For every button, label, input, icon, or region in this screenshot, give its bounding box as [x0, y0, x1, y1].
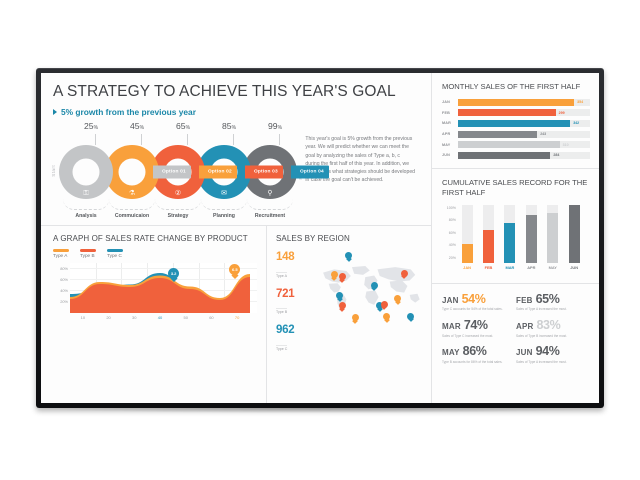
monthly-stat-percent: 94% [536, 345, 560, 358]
monthly-stat-head: MAR74% [442, 319, 512, 332]
monthly-stat-month: JAN [442, 296, 459, 305]
process-percent: 99% [268, 121, 282, 131]
monthly-bar-track: 354 [458, 99, 590, 106]
monthly-stat-month: FEB [516, 296, 533, 305]
monthly-stat-desc: Type B accounts for 86% of the total sal… [442, 360, 512, 365]
process-percent-leader [233, 134, 234, 145]
x-tick: 10 [81, 315, 85, 320]
cumulative-x-axis: JANFEBMARAPRMAYJUN [459, 265, 588, 273]
monthly-stat-percent: 83% [537, 319, 561, 332]
process-percent: 45% [130, 121, 144, 131]
legend-swatch [80, 249, 96, 252]
cumulative-sales-section: CUMULATIVE SALES RECORD FOR THE FIRST HA… [432, 168, 599, 282]
lab-flask-icon: ⚗ [129, 190, 135, 197]
monthly-bar-fill [458, 120, 570, 127]
monthly-stat: APR83%Sales of Type B increased the most… [516, 319, 590, 345]
monthly-stats-grid: JAN54%Type C accounts for 54% of the tot… [442, 293, 590, 372]
monthly-bar-track: 342 [458, 120, 590, 127]
y-tick: 40% [60, 288, 68, 293]
map-pin-icon[interactable] [371, 282, 378, 291]
process-percent-leader [95, 134, 96, 145]
mail-icon: ✉ [221, 190, 227, 197]
sales-rate-panel: A GRAPH OF SALES RATE CHANGE BY PRODUCT … [41, 226, 266, 403]
monthly-bar-track: 243 [458, 131, 590, 138]
monthly-stat-percent: 65% [536, 293, 560, 306]
legend-label: Type B [80, 253, 95, 258]
sales-by-region-title: SALES BY REGION [276, 234, 423, 243]
cumulative-chart: 100%80%60%40%20% JANFEBMARAPRMAYJUN [442, 205, 590, 277]
region-value: 148 [276, 252, 308, 264]
cumulative-x-tick: FEB [485, 265, 493, 270]
process-percent: 85% [222, 121, 236, 131]
x-tick: 20 [106, 315, 110, 320]
monthly-stat-head: APR83% [516, 319, 586, 332]
process-diagram: Start Finish 25%45%65%85%99% ⚿Option 01⚗… [51, 121, 303, 225]
lock-icon: ⚿ [83, 190, 88, 197]
cumulative-x-tick: MAR [505, 265, 514, 270]
monthly-stat-month: JUN [516, 348, 533, 357]
monthly-bar-track: 284 [458, 152, 590, 159]
process-percent-leader [141, 134, 142, 145]
map-landmass [377, 267, 415, 281]
monthly-stat: MAY86%Type B accounts for 86% of the tot… [442, 345, 516, 371]
map-pin-icon[interactable] [394, 295, 401, 304]
monthly-bar-fill [458, 99, 574, 106]
monthly-stat-desc: Type C accounts for 54% of the total sal… [442, 307, 512, 312]
legend-label: Type A [53, 253, 67, 258]
legend-swatch [53, 249, 69, 252]
monthly-bar-fill [458, 131, 537, 138]
process-percent-leader [279, 134, 280, 145]
process-section: Start Finish 25%45%65%85%99% ⚿Option 01⚗… [41, 117, 431, 225]
process-ring-hole [119, 159, 146, 186]
sales-rate-y-axis: 80%60%40%20% [54, 263, 69, 313]
legend-item: Type A [53, 249, 69, 258]
monthly-bar-month: JUN [442, 153, 458, 157]
cumulative-y-axis: 100%80%60%40%20% [442, 205, 457, 263]
cumulative-y-tick: 60% [449, 231, 456, 235]
map-pin-tip [408, 317, 413, 322]
right-column: MONTHLY SALES OF THE FIRST HALF JAN354FE… [431, 73, 599, 403]
sales-rate-title: A GRAPH OF SALES RATE CHANGE BY PRODUCT [53, 234, 257, 243]
region-map-wrap: 148Type A721Type B962Type C [276, 249, 423, 325]
y-tick: 20% [60, 299, 68, 304]
monthly-bar-row: MAR342 [442, 120, 590, 127]
process-percent: 65% [176, 121, 190, 131]
monthly-bar-row: MAY310 [442, 141, 590, 148]
monthly-bar-row: JUN284 [442, 152, 590, 159]
monthly-stat-percent: 86% [463, 345, 487, 358]
monthly-stat: FEB65%Sales of Type A increased the most… [516, 293, 590, 319]
monthly-bar-month: FEB [442, 111, 458, 115]
data-marker-tip [170, 275, 177, 282]
clock-icon: ② [175, 190, 181, 197]
monthly-stat-month: MAY [442, 348, 460, 357]
area-series-svg [70, 263, 250, 313]
page-title: A STRATEGY TO ACHIEVE THIS YEAR'S GOAL [53, 83, 419, 100]
monthly-stat-desc: Sales of Type C increased the most. [442, 334, 512, 339]
map-pin-icon[interactable] [331, 271, 338, 280]
monthly-bar-value: 284 [550, 152, 559, 159]
region-stat: 721Type B [276, 289, 308, 319]
monthly-bar-row: APR243 [442, 131, 590, 138]
process-percent-leader [187, 134, 188, 145]
map-pin-tip [402, 274, 407, 279]
region-values: 148Type A721Type B962Type C [276, 249, 308, 325]
x-tick: 60 [209, 315, 213, 320]
process-ring-tag: Option 02 [199, 166, 237, 179]
process-start-label: Start [51, 165, 56, 177]
world-map-svg [312, 249, 423, 323]
cumulative-plot [459, 205, 588, 263]
region-stat: 962Type C [276, 325, 308, 355]
monthly-stat: JUN94%Sales of Type A increased the most… [516, 345, 590, 371]
map-pin-icon[interactable] [339, 302, 346, 311]
cumulative-bar-fill [462, 244, 473, 263]
map-pin-icon[interactable] [345, 252, 352, 261]
cumulative-bar-fill [483, 230, 494, 262]
monthly-bar-value: 299 [556, 109, 565, 116]
monthly-sales-section: MONTHLY SALES OF THE FIRST HALF JAN354FE… [432, 73, 599, 168]
monthly-bar-month: APR [442, 132, 458, 136]
screenshot-stage: A STRATEGY TO ACHIEVE THIS YEAR'S GOAL 5… [0, 0, 640, 480]
region-value: 962 [276, 325, 308, 337]
region-unit: Type B [276, 308, 287, 314]
process-ring-tag: Option 03 [245, 166, 283, 179]
cumulative-y-tick: 20% [449, 256, 456, 260]
monthly-sales-title: MONTHLY SALES OF THE FIRST HALF [442, 82, 590, 92]
monthly-stat-desc: Sales of Type A increased the most. [516, 360, 586, 365]
x-tick: 50 [183, 315, 187, 320]
monitor-bezel: A STRATEGY TO ACHIEVE THIS YEAR'S GOAL 5… [36, 68, 604, 408]
data-marker[interactable]: 3.2 [168, 268, 179, 282]
map-pin-icon[interactable] [381, 301, 388, 310]
map-pin-tip [382, 305, 387, 310]
region-value: 721 [276, 289, 308, 301]
monthly-bar-month: MAY [442, 143, 458, 147]
cumulative-y-tick: 100% [447, 206, 456, 210]
x-tick: 70 [235, 315, 239, 320]
hero-subtitle-row: 5% growth from the previous year [53, 107, 419, 117]
triangle-right-icon [53, 109, 57, 115]
monthly-stat-percent: 74% [464, 319, 488, 332]
left-column: A STRATEGY TO ACHIEVE THIS YEAR'S GOAL 5… [41, 73, 431, 403]
map-pin-icon[interactable] [407, 313, 414, 322]
process-ring-tag: Option 01 [153, 166, 191, 179]
y-tick: 60% [60, 277, 68, 282]
monthly-bar-row: FEB299 [442, 109, 590, 116]
cumulative-x-tick: MAY [549, 265, 557, 270]
monthly-bar-track: 299 [458, 109, 590, 116]
data-marker[interactable]: 6.5 [229, 264, 240, 278]
process-arc [155, 199, 201, 210]
monthly-stat: MAR74%Sales of Type C increased the most… [442, 319, 516, 345]
monthly-bar-track: 310 [458, 141, 590, 148]
cumulative-bar-fill [526, 215, 537, 263]
cumulative-bar-fill [504, 223, 515, 262]
map-pin-icon[interactable] [352, 314, 359, 323]
legend-swatch [107, 249, 123, 252]
region-stat: 148Type A [276, 252, 308, 282]
map-landmass [352, 266, 370, 275]
monthly-bar-fill [458, 109, 556, 116]
process-step-label: Recruitment [238, 213, 302, 219]
monitor-screen: A STRATEGY TO ACHIEVE THIS YEAR'S GOAL 5… [41, 73, 599, 403]
monthly-stat-month: MAR [442, 322, 461, 331]
cumulative-bar-fill [547, 213, 558, 262]
monthly-bar-row: JAN354 [442, 99, 590, 106]
monthly-stat-desc: Sales of Type B increased the most. [516, 334, 586, 339]
process-ring-hole [73, 159, 100, 186]
monthly-stat-head: FEB65% [516, 293, 586, 306]
map-pin-icon[interactable] [336, 292, 343, 301]
monthly-stat-head: JAN54% [442, 293, 512, 306]
y-tick: 80% [60, 266, 68, 271]
map-landmass [410, 294, 420, 303]
bulb-icon: ⚲ [267, 190, 272, 197]
monthly-stat: JAN54%Type C accounts for 54% of the tot… [442, 293, 516, 319]
monthly-stats-section: JAN54%Type C accounts for 54% of the tot… [432, 283, 599, 378]
hero-section: A STRATEGY TO ACHIEVE THIS YEAR'S GOAL 5… [41, 73, 431, 117]
process-arc [63, 199, 109, 210]
monthly-bar-value: 310 [560, 141, 569, 148]
cumulative-x-tick: JUN [570, 265, 578, 270]
sales-rate-legend: Type AType BType C [53, 249, 257, 258]
lower-left-row: A GRAPH OF SALES RATE CHANGE BY PRODUCT … [41, 225, 431, 403]
process-ring-1[interactable]: ⚿ [59, 145, 113, 199]
infographic-page: A STRATEGY TO ACHIEVE THIS YEAR'S GOAL 5… [41, 73, 599, 403]
map-pin-icon[interactable] [339, 273, 346, 282]
map-pin-icon[interactable] [401, 270, 408, 279]
sales-rate-plot: 3.26.5 [70, 263, 257, 313]
hero-subtitle: 5% growth from the previous year [61, 107, 196, 117]
monthly-stat-desc: Sales of Type A increased the most. [516, 307, 586, 312]
monthly-bar-fill [458, 152, 550, 159]
process-arc [109, 199, 155, 210]
sales-rate-chart: 80%60%40%20% 3.26.5 10203040506070 [54, 263, 257, 325]
map-pin-icon[interactable] [383, 313, 390, 322]
monthly-sales-bars: JAN354FEB299MAR342APR243MAY310JUN284 [442, 99, 590, 159]
cumulative-bar-fill [569, 205, 580, 263]
cumulative-x-tick: APR [527, 265, 535, 270]
monthly-stat-month: APR [516, 322, 534, 331]
process-percent-row: 25%45%65%85%99% [61, 121, 305, 137]
monthly-bar-month: JAN [442, 100, 458, 104]
cumulative-y-tick: 40% [449, 243, 456, 247]
cumulative-y-tick: 80% [449, 218, 456, 222]
monthly-bar-value: 243 [537, 131, 546, 138]
x-tick: 40 [158, 315, 162, 320]
process-ring-tag: Option 04 [291, 166, 329, 179]
legend-item: Type C [107, 249, 123, 258]
monthly-stat-head: JUN94% [516, 345, 586, 358]
x-tick: 30 [132, 315, 136, 320]
monthly-bar-month: MAR [442, 121, 458, 125]
monthly-stat-head: MAY86% [442, 345, 512, 358]
sales-by-region-panel: SALES BY REGION 148Type A721Type B962Typ… [266, 226, 431, 403]
monthly-bar-fill [458, 141, 560, 148]
cumulative-sales-title: CUMULATIVE SALES RECORD FOR THE FIRST HA… [442, 178, 590, 197]
process-percent: 25% [84, 121, 98, 131]
map-pin-tip [384, 317, 389, 322]
monthly-bar-value: 354 [574, 99, 583, 106]
sales-rate-x-axis: 10203040506070 [70, 315, 257, 323]
monthly-bar-value: 342 [570, 120, 579, 127]
region-unit: Type A [276, 272, 287, 278]
monthly-stat-percent: 54% [462, 293, 486, 306]
region-unit: Type C [276, 345, 287, 351]
process-arc [201, 199, 247, 210]
world-map [312, 249, 423, 323]
process-arc [247, 199, 293, 210]
legend-item: Type B [80, 249, 96, 258]
process-ring-2[interactable]: Option 01⚗ [105, 145, 159, 199]
cumulative-x-tick: JAN [463, 265, 471, 270]
legend-label: Type C [107, 253, 122, 258]
map-landmass [390, 280, 408, 292]
